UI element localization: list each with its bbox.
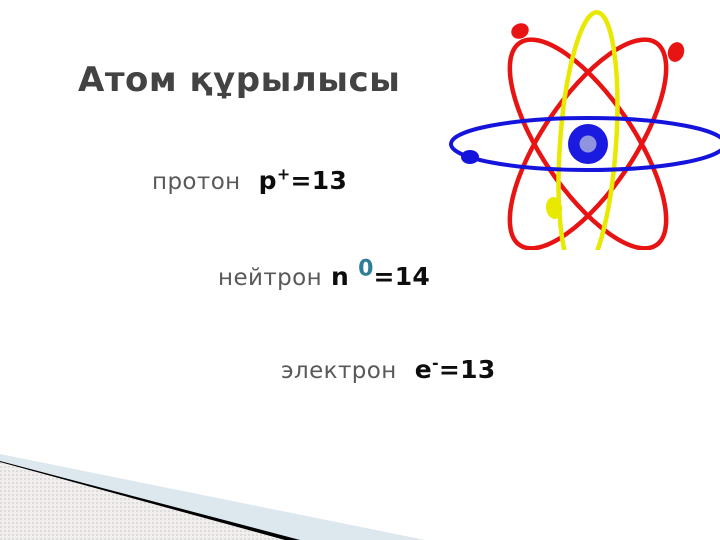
atom-icon	[420, 0, 720, 250]
particle-equals-neutron: =	[373, 262, 394, 291]
particle-count-electron: 13	[460, 355, 495, 384]
particle-formula-neutron: n0=14	[331, 262, 430, 291]
particle-label-neutron: нейтрон	[218, 265, 322, 291]
particle-formula-electron: e-=13	[415, 355, 496, 384]
particle-charge-electron: -	[432, 354, 439, 373]
particle-equals-electron: =	[439, 355, 460, 384]
particle-symbol-neutron: n	[331, 262, 349, 291]
page-title: Атом құрылысы	[78, 60, 400, 100]
particle-count-proton: 13	[312, 166, 347, 195]
particle-formula-proton: p+=13	[259, 166, 348, 195]
particle-charge-neutron: 0	[358, 257, 373, 282]
particle-line-proton: протонp+=13	[152, 166, 347, 195]
particle-label-electron: электрон	[281, 358, 397, 384]
particle-count-neutron: 14	[395, 262, 430, 291]
nucleus-inner	[580, 136, 597, 153]
particle-line-electron: электронe-=13	[281, 355, 496, 384]
electron-dot-red-upper-right	[665, 40, 686, 64]
particle-line-neutron: нейтронn0=14	[218, 262, 430, 291]
particle-equals-proton: =	[291, 166, 312, 195]
particle-charge-proton: +	[277, 165, 291, 184]
slide-canvas: Атом құрылысы протонp+=13 нейтронn0=14 э…	[0, 0, 720, 540]
particle-symbol-electron: e	[415, 355, 432, 384]
electron-dot-blue-left	[461, 150, 479, 164]
corner-ribbon-decoration	[0, 430, 720, 540]
particle-label-proton: протон	[152, 169, 241, 195]
particle-symbol-proton: p	[259, 166, 277, 195]
